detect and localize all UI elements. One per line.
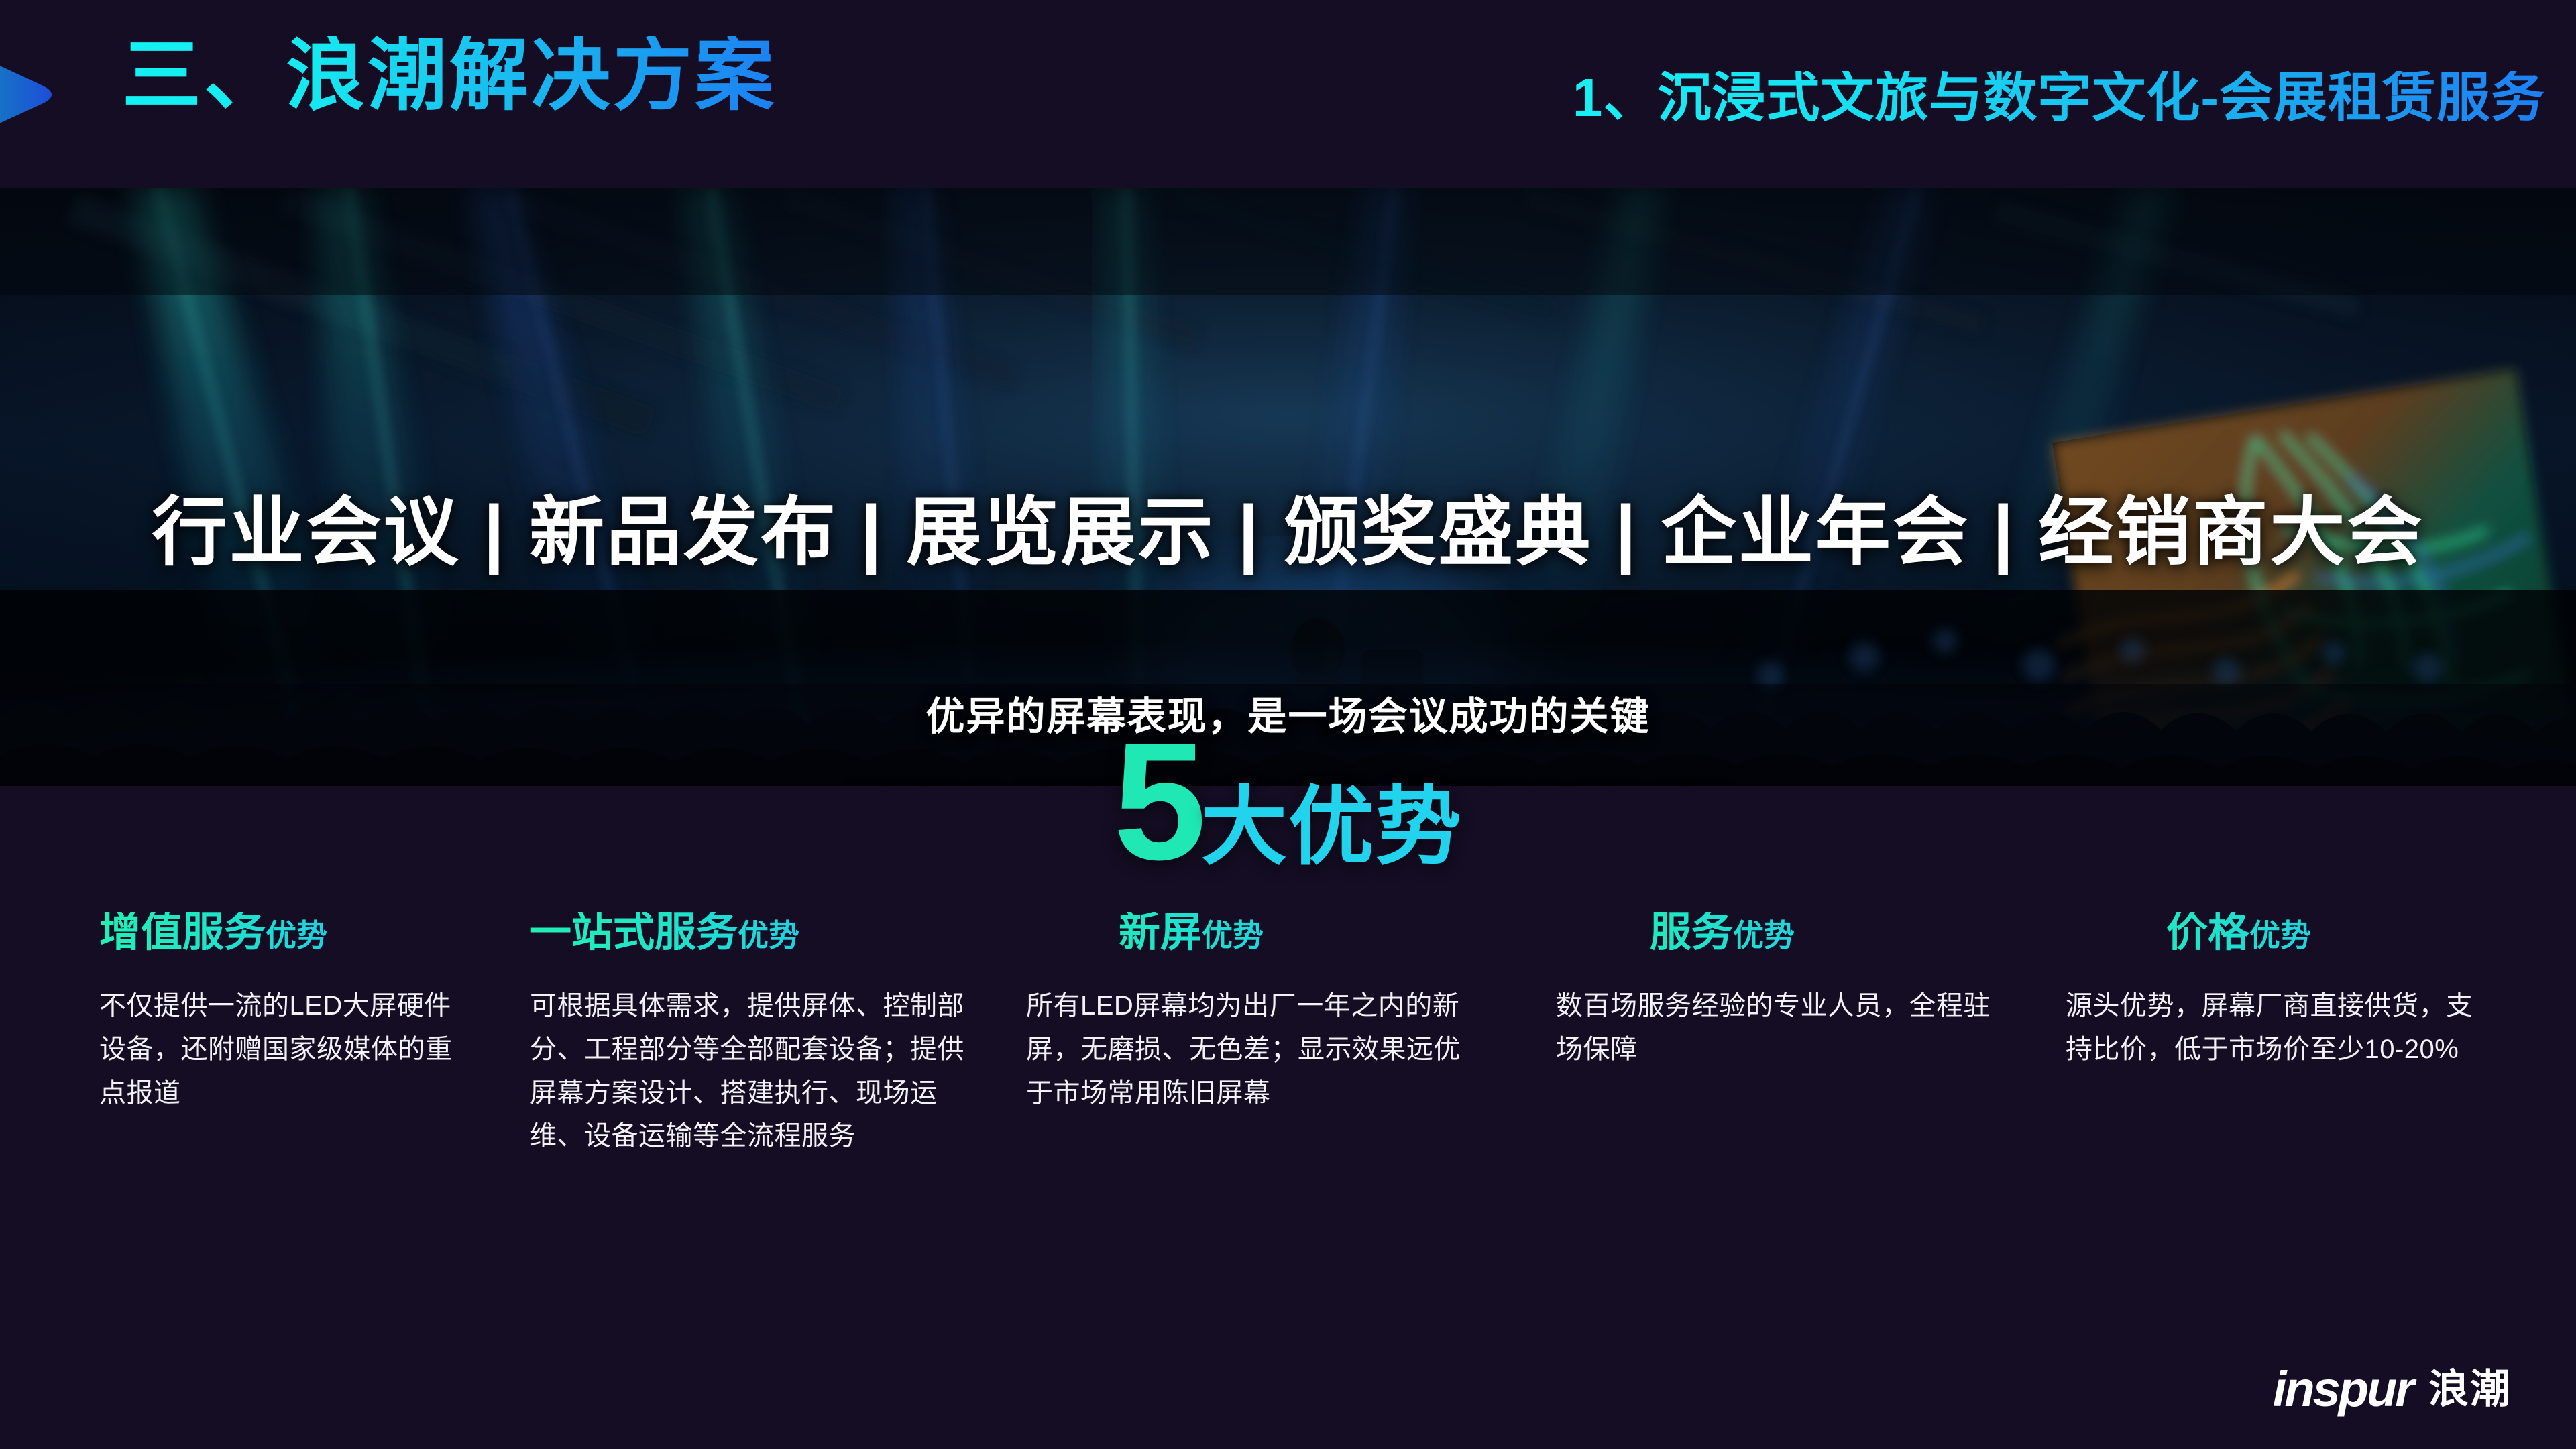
advantage-columns: 增值服务优势 不仅提供一流的LED大屏硬件设备，还附赠国家级媒体的重点报道 一站… — [0, 912, 2576, 1341]
page-title: 三、浪潮解决方案 — [122, 36, 777, 115]
advantage-heading-suffix-1: 优势 — [266, 918, 327, 953]
advantage-heading-4: 服务优势 — [1556, 912, 1992, 953]
advantage-column-5: 价格优势 源头优势，屏幕厂商直接供货，支持比价，低于市场价至少10-20% — [2025, 912, 2535, 1341]
advantage-heading-main-4: 服务 — [1650, 909, 1733, 955]
advantage-column-3: 新屏优势 所有LED屏幕均为出厂一年之内的新屏，无磨损、无色差；显示效果远优于市… — [1006, 912, 1516, 1341]
advantage-body-2: 可根据具体需求，提供屏体、控制部分、工程部分等全部配套设备；提供屏幕方案设计、搭… — [530, 984, 972, 1158]
advantage-heading-main-5: 价格 — [2166, 909, 2249, 955]
advantage-heading-main-1: 增值服务 — [99, 909, 266, 955]
advantage-body-4: 数百场服务经验的专业人员，全程驻场保障 — [1556, 984, 1992, 1071]
inspur-wordmark: inspur — [2273, 1365, 2412, 1414]
header-bar: 三、浪潮解决方案 1、沉浸式文旅与数字文化-会展租赁服务 — [0, 0, 2576, 188]
banner-subline-1: 优异的屏幕表现，是一场会议成功的关键 — [0, 697, 2576, 736]
advantage-heading-2: 一站式服务优势 — [530, 912, 972, 953]
advantage-column-2: 一站式服务优势 可根据具体需求，提供屏体、控制部分、工程部分等全部配套设备；提供… — [510, 912, 1006, 1341]
banner-headline: 行业会议 | 新品发布 | 展览展示 | 颁奖盛典 | 企业年会 | 经销商大会 — [0, 495, 2576, 570]
advantage-heading-3: 新屏优势 — [1026, 912, 1482, 953]
advantage-heading-suffix-3: 优势 — [1202, 918, 1264, 953]
advantage-heading-main-3: 新屏 — [1119, 909, 1202, 955]
advantage-column-1: 增值服务优势 不仅提供一流的LED大屏硬件设备，还附赠国家级媒体的重点报道 — [0, 912, 510, 1341]
chevron-right-icon — [0, 25, 94, 163]
slide-root: 行业会议 | 新品发布 | 展览展示 | 颁奖盛典 | 企业年会 | 经销商大会… — [0, 0, 2576, 1449]
advantage-heading-suffix-5: 优势 — [2249, 918, 2311, 953]
advantage-column-4: 服务优势 数百场服务经验的专业人员，全程驻场保障 — [1516, 912, 2025, 1341]
advantage-body-5: 源头优势，屏幕厂商直接供货，支持比价，低于市场价至少10-20% — [2066, 984, 2495, 1071]
stage-venue-banner-image: 行业会议 | 新品发布 | 展览展示 | 颁奖盛典 | 企业年会 | 经销商大会… — [0, 188, 2576, 786]
advantage-body-1: 不仅提供一流的LED大屏硬件设备，还附赠国家级媒体的重点报道 — [99, 984, 475, 1114]
advantage-body-3: 所有LED屏幕均为出厂一年之内的新屏，无磨损、无色差；显示效果远优于市场常用陈旧… — [1026, 984, 1482, 1114]
page-subtitle: 1、沉浸式文旅与数字文化-会展租赁服务 — [1573, 71, 2545, 125]
advantage-heading-5: 价格优势 — [2066, 912, 2495, 953]
advantage-heading-suffix-2: 优势 — [738, 918, 799, 953]
inspur-logo: inspur 浪潮 — [2273, 1365, 2512, 1414]
advantage-heading-suffix-4: 优势 — [1733, 918, 1795, 953]
inspur-chinese-name: 浪潮 — [2428, 1369, 2512, 1409]
advantage-heading-main-2: 一站式服务 — [530, 909, 738, 955]
advantage-heading-1: 增值服务优势 — [99, 912, 475, 953]
advantages-label: 大优势 — [1201, 785, 1463, 870]
